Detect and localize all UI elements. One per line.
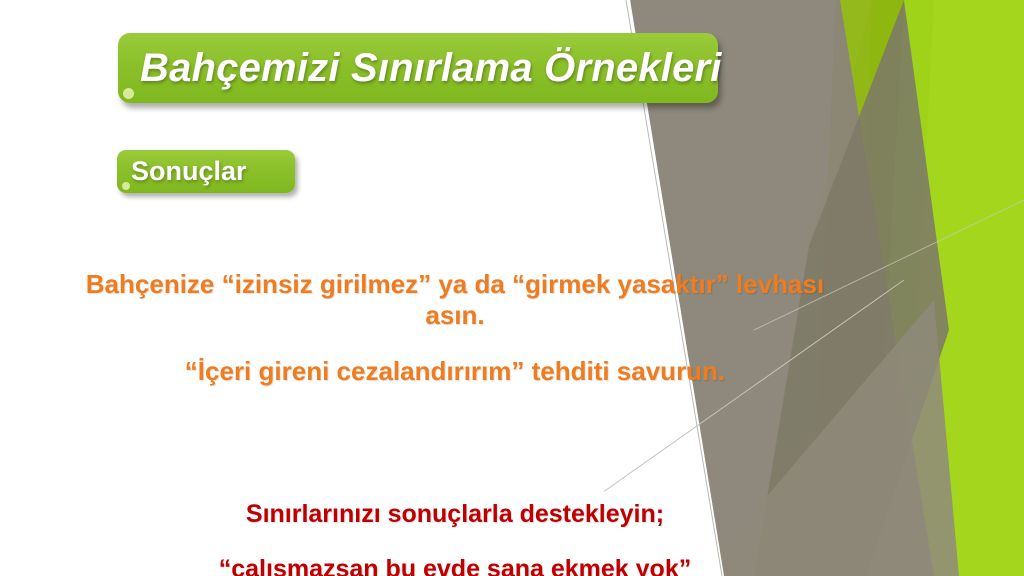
body-paragraph-4: “çalışmazsan bu evde sana ekmek yok”: [60, 555, 850, 576]
presentation-slide: Bahçemizi Sınırlama Örnekleri Sonuçlar B…: [0, 0, 1024, 576]
slide-title-text: Bahçemizi Sınırlama Örnekleri: [140, 46, 722, 91]
slide-body-content: Bahçenize “izinsiz girilmez” ya da “girm…: [60, 243, 850, 576]
slide-subtitle-banner: Sonuçlar: [117, 150, 295, 193]
slide-title-banner: Bahçemizi Sınırlama Örnekleri: [118, 33, 718, 103]
slide-subtitle-text: Sonuçlar: [131, 156, 247, 187]
art-shape-bright-green-overlay: [904, 0, 1024, 576]
body-spacer: [60, 413, 850, 475]
art-shape-bright-green-right: [852, 0, 1024, 576]
body-paragraph-2: “İçeri gireni cezalandırırım” tehditi sa…: [60, 356, 850, 387]
body-paragraph-3: Sınırlarınızı sonuçlarla destekleyin;: [60, 500, 850, 530]
body-paragraph-1: Bahçenize “izinsiz girilmez” ya da “girm…: [60, 269, 850, 330]
